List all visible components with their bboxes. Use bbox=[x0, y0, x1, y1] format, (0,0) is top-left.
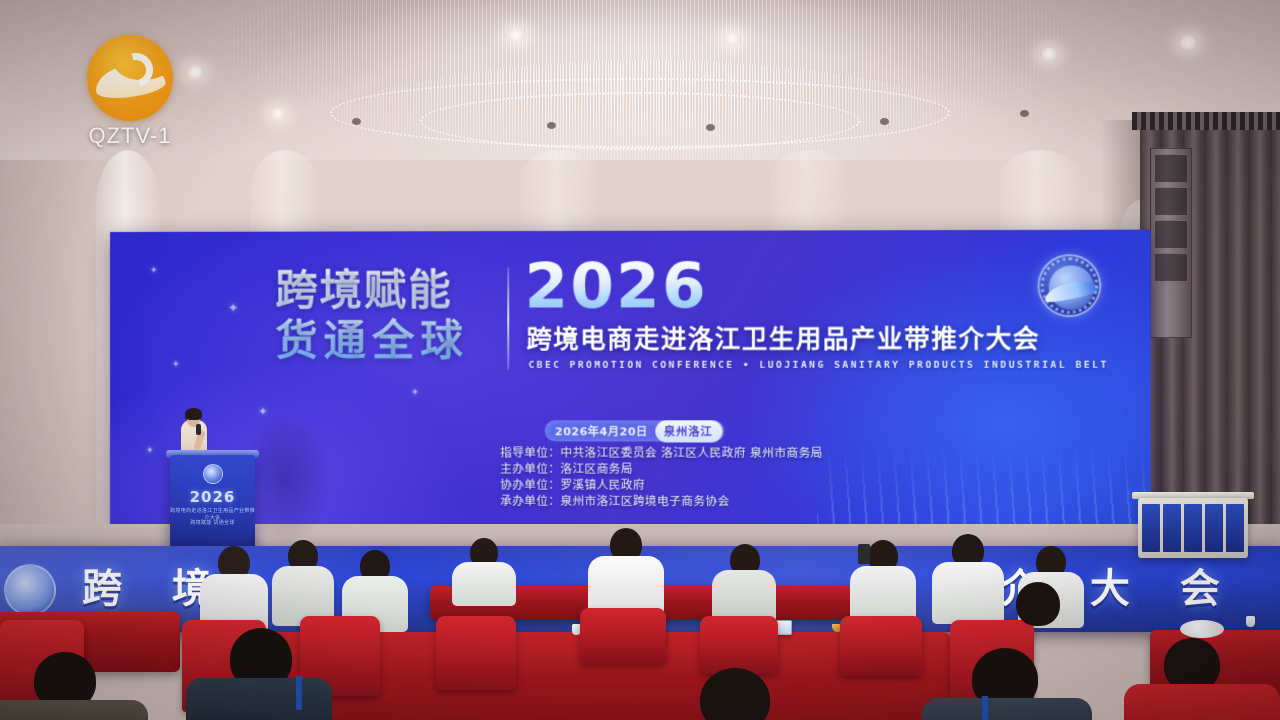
person-body bbox=[452, 562, 516, 606]
organizer-line: 协办单位：罗溪镇人民政府 bbox=[500, 477, 823, 494]
conference-emblem-icon bbox=[1037, 254, 1101, 317]
ceiling-spotlight bbox=[186, 66, 204, 78]
host-hair bbox=[185, 408, 202, 420]
banquet-chair bbox=[840, 616, 922, 676]
chandelier-fixture-dot bbox=[547, 122, 556, 129]
ceiling-spotlight bbox=[1178, 36, 1198, 49]
person-head bbox=[1016, 582, 1060, 626]
sparkle-icon: ✦ bbox=[411, 388, 419, 397]
banquet-chair bbox=[700, 616, 778, 674]
chandelier-fixture-dot bbox=[880, 118, 889, 125]
chandelier-fixture-dot bbox=[352, 118, 361, 125]
channel-name: QZTV-1 bbox=[75, 123, 185, 149]
person-body bbox=[932, 562, 1004, 624]
banner-date: 2026年4月20日 bbox=[555, 423, 655, 439]
banquet-chair bbox=[580, 608, 666, 664]
table-plate bbox=[1180, 620, 1224, 638]
banner-slogan: 跨境赋能 货通全球 bbox=[275, 265, 492, 366]
chandelier-fixture-dot bbox=[1020, 110, 1029, 117]
sparkle-icon: ✦ bbox=[228, 304, 238, 313]
banner-divider bbox=[507, 267, 509, 370]
banner-slogan-line1: 跨境赋能 bbox=[275, 265, 492, 316]
organizer-line: 承办单位：泉州市洛江区跨境电子商务协会 bbox=[500, 493, 823, 510]
ceiling-spotlight bbox=[1040, 48, 1058, 60]
handheld-microphone-icon bbox=[196, 424, 201, 435]
ceiling-spotlight bbox=[270, 108, 286, 119]
lanyard bbox=[296, 676, 302, 710]
water-cup bbox=[1246, 616, 1255, 627]
channel-logo-bug: QZTV-1 bbox=[75, 35, 185, 150]
chandelier-fixture-dot bbox=[706, 124, 715, 131]
podium-emblem-icon bbox=[203, 464, 223, 484]
audience-area: 参会代表 泉州洛江 bbox=[0, 520, 1280, 720]
chandelier-arc-inner bbox=[420, 92, 860, 150]
banner-organizers: 指导单位：中共洛江区委员会 洛江区人民政府 泉州市商务局 主办单位：洛江区商务局… bbox=[500, 444, 823, 509]
ceiling-spotlight bbox=[505, 28, 527, 42]
sparkle-icon: ✦ bbox=[150, 266, 158, 275]
ceiling-spotlight bbox=[722, 32, 742, 45]
organizer-line: 指导单位：中共洛江区委员会 洛江区人民政府 泉州市商务局 bbox=[500, 444, 823, 460]
podium-year: 2026 bbox=[170, 488, 255, 506]
sparkle-icon: ✦ bbox=[172, 360, 180, 369]
person-body bbox=[186, 678, 332, 720]
smartphone-icon bbox=[858, 544, 870, 564]
sparkle-icon: ✦ bbox=[146, 446, 154, 455]
person-body bbox=[922, 698, 1092, 720]
emblem-ring bbox=[1041, 257, 1099, 314]
banner-year: 2026 bbox=[524, 255, 707, 318]
banner-title-en: CBEC PROMOTION CONFERENCE • LUOJIANG SAN… bbox=[529, 360, 1109, 371]
person-body bbox=[1124, 684, 1280, 720]
wall-speaker bbox=[1150, 148, 1192, 338]
organizer-line: 主办单位：洛江区商务局 bbox=[500, 460, 823, 477]
banner-title-cn: 跨境电商走进洛江卫生用品产业带推介大会 bbox=[526, 325, 1040, 354]
lanyard bbox=[982, 696, 988, 720]
curtain-rail bbox=[1132, 112, 1280, 130]
banquet-chair bbox=[436, 616, 516, 690]
person-body bbox=[0, 700, 148, 720]
banner-slogan-line2: 货通全球 bbox=[275, 316, 492, 366]
broadcast-frame: ✦ ✦ ✦ ✦ ✦ ✦ ✦ ✦ 跨境赋能 货通全球 2026 跨 bbox=[0, 0, 1280, 720]
banner-date-location-pill: 2026年4月20日 泉州洛江 bbox=[545, 420, 724, 441]
banner-location-badge: 泉州洛江 bbox=[655, 420, 722, 442]
